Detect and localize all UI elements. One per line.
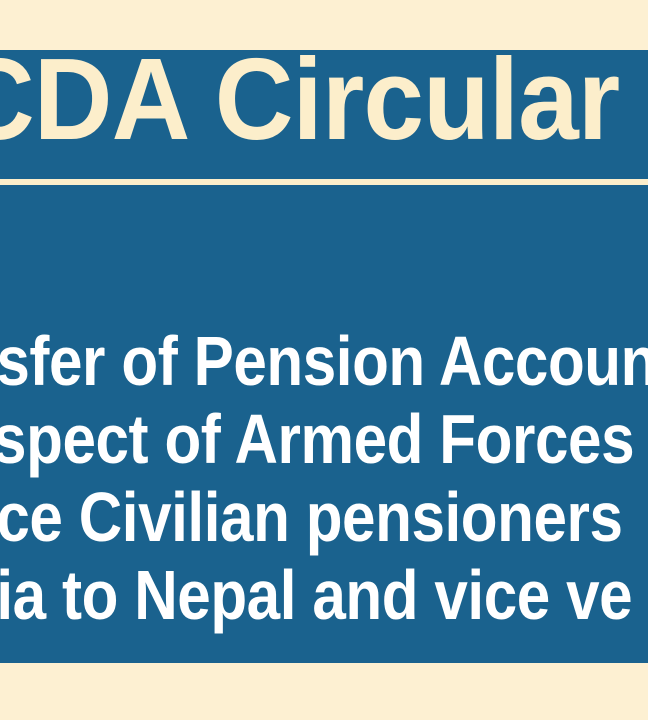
bottom-cream-strip bbox=[0, 663, 648, 720]
title-underline-rule bbox=[0, 179, 648, 185]
poster-canvas: CDA Circular 2 nsfer of Pension Accoun e… bbox=[0, 0, 648, 720]
headline-line: nce Civilian pensioners bbox=[0, 482, 623, 552]
top-cream-strip bbox=[0, 0, 648, 50]
headline-line: nsfer of Pension Accoun bbox=[0, 326, 648, 396]
title-region: CDA Circular 2 bbox=[0, 50, 648, 180]
page-title: CDA Circular 2 bbox=[0, 50, 648, 164]
headline-line: dia to Nepal and vice ve bbox=[0, 560, 632, 630]
headline-region: nsfer of Pension Accoun espect of Armed … bbox=[0, 310, 648, 663]
headline-line: espect of Armed Forces bbox=[0, 404, 634, 474]
